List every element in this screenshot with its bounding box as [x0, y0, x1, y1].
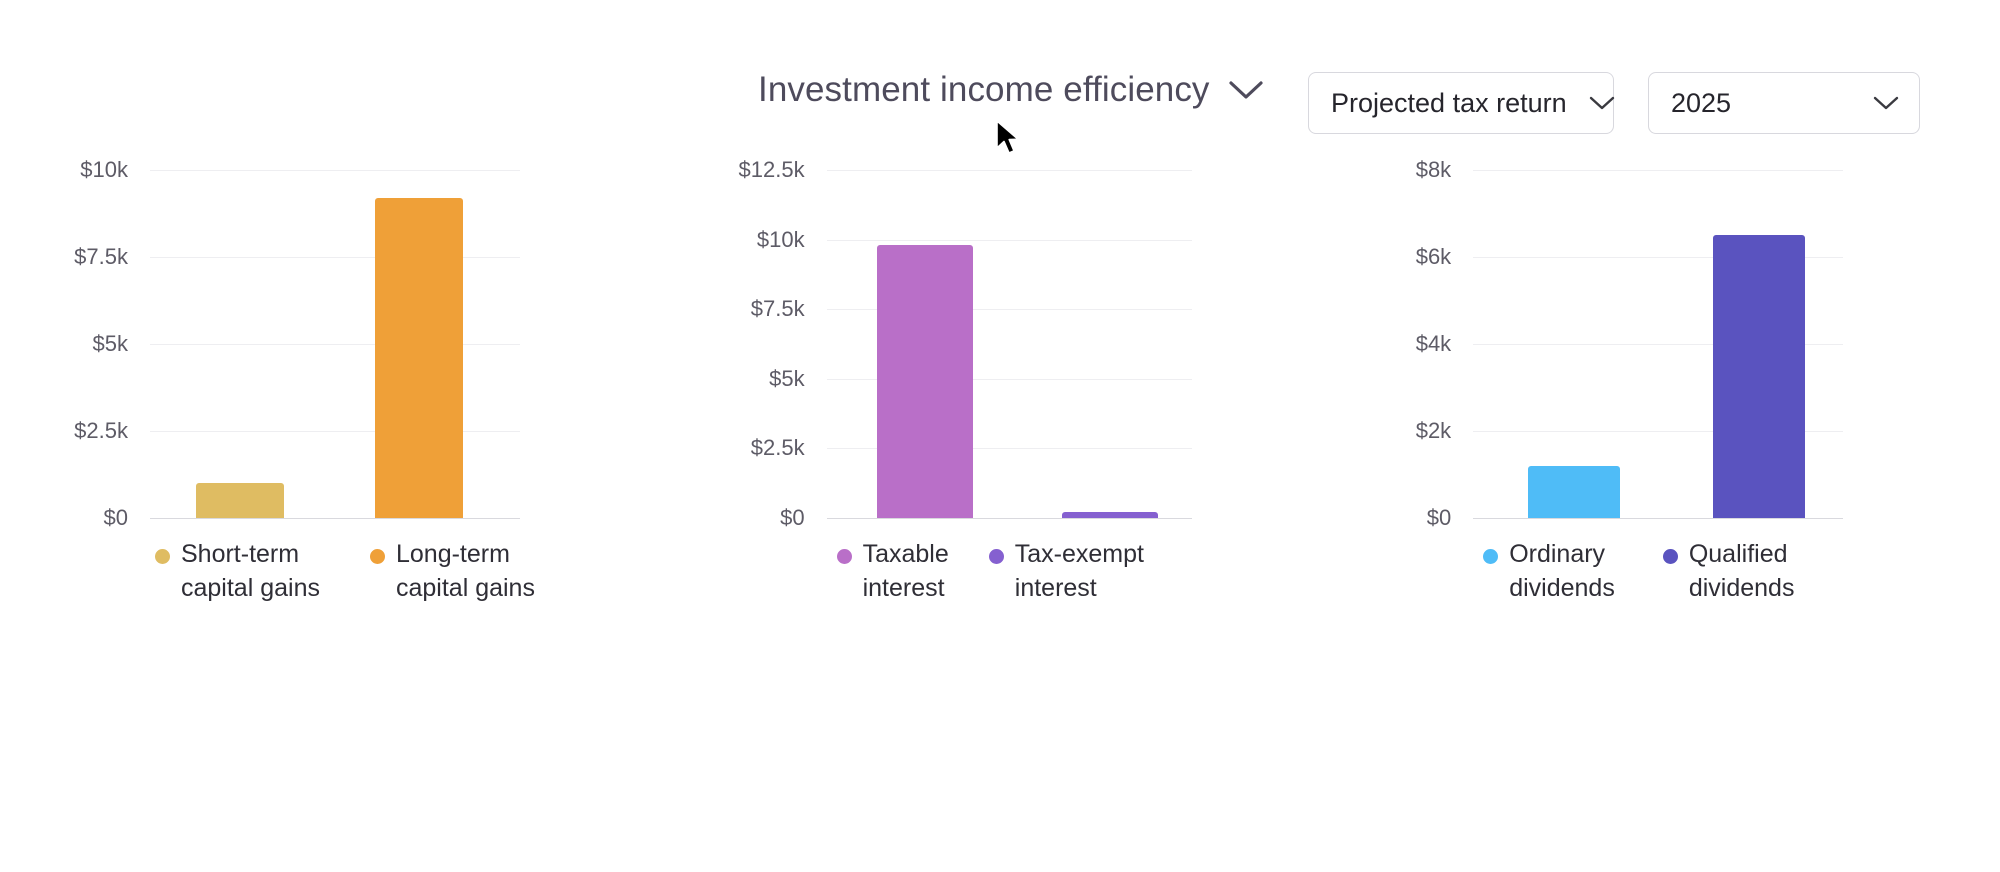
- chart-legend: Short-term capital gainsLong-term capita…: [155, 538, 535, 605]
- report-type-select[interactable]: Projected tax return: [1308, 72, 1614, 134]
- chart-legend: Taxable interestTax-exempt interest: [837, 538, 1144, 605]
- header-controls: Projected tax return 2025: [1308, 72, 1920, 134]
- legend-item[interactable]: Qualified dividends: [1663, 538, 1795, 605]
- bar[interactable]: [196, 483, 284, 518]
- legend-label: Taxable interest: [863, 538, 949, 605]
- legend-label: Tax-exempt interest: [1015, 538, 1144, 605]
- legend-label: Qualified dividends: [1689, 538, 1795, 605]
- legend-item[interactable]: Tax-exempt interest: [989, 538, 1144, 605]
- bar[interactable]: [1528, 466, 1620, 518]
- bar[interactable]: [877, 245, 973, 518]
- charts-row: $0$2.5k$5k$7.5k$10k Short-term capital g…: [0, 160, 2000, 872]
- legend-label: Long-term capital gains: [396, 538, 535, 605]
- legend-item[interactable]: Ordinary dividends: [1483, 538, 1615, 605]
- bar[interactable]: [1062, 512, 1158, 518]
- year-select[interactable]: 2025: [1648, 72, 1920, 134]
- chevron-down-icon: [1589, 95, 1615, 111]
- legend-label: Ordinary dividends: [1509, 538, 1615, 605]
- chevron-down-icon[interactable]: [1228, 79, 1264, 101]
- legend-color-dot-icon: [370, 549, 385, 564]
- legend-color-dot-icon: [989, 549, 1004, 564]
- legend-color-dot-icon: [1663, 549, 1678, 564]
- page-title: Investment income efficiency: [758, 72, 1210, 107]
- chart-panel-interest: $0$2.5k$5k$7.5k$10k$12.5k Taxable intere…: [667, 160, 1334, 872]
- chart-panel-capital-gains: $0$2.5k$5k$7.5k$10k Short-term capital g…: [0, 160, 667, 872]
- legend-item[interactable]: Long-term capital gains: [370, 538, 535, 605]
- legend-color-dot-icon: [1483, 549, 1498, 564]
- legend-item[interactable]: Taxable interest: [837, 538, 949, 605]
- legend-color-dot-icon: [155, 549, 170, 564]
- chevron-down-icon: [1873, 95, 1899, 111]
- report-type-value: Projected tax return: [1331, 90, 1567, 117]
- bar[interactable]: [1713, 235, 1805, 518]
- legend-item[interactable]: Short-term capital gains: [155, 538, 320, 605]
- year-value: 2025: [1671, 90, 1731, 117]
- chart-title-dropdown[interactable]: Investment income efficiency: [758, 72, 1264, 107]
- legend-color-dot-icon: [837, 549, 852, 564]
- legend-label: Short-term capital gains: [181, 538, 320, 605]
- bar[interactable]: [375, 198, 463, 518]
- chart-header: Investment income efficiency Projected t…: [0, 0, 2000, 160]
- chart-legend: Ordinary dividendsQualified dividends: [1483, 538, 1794, 605]
- chart-panel-dividends: $0$2k$4k$6k$8k Ordinary dividendsQualifi…: [1333, 160, 2000, 872]
